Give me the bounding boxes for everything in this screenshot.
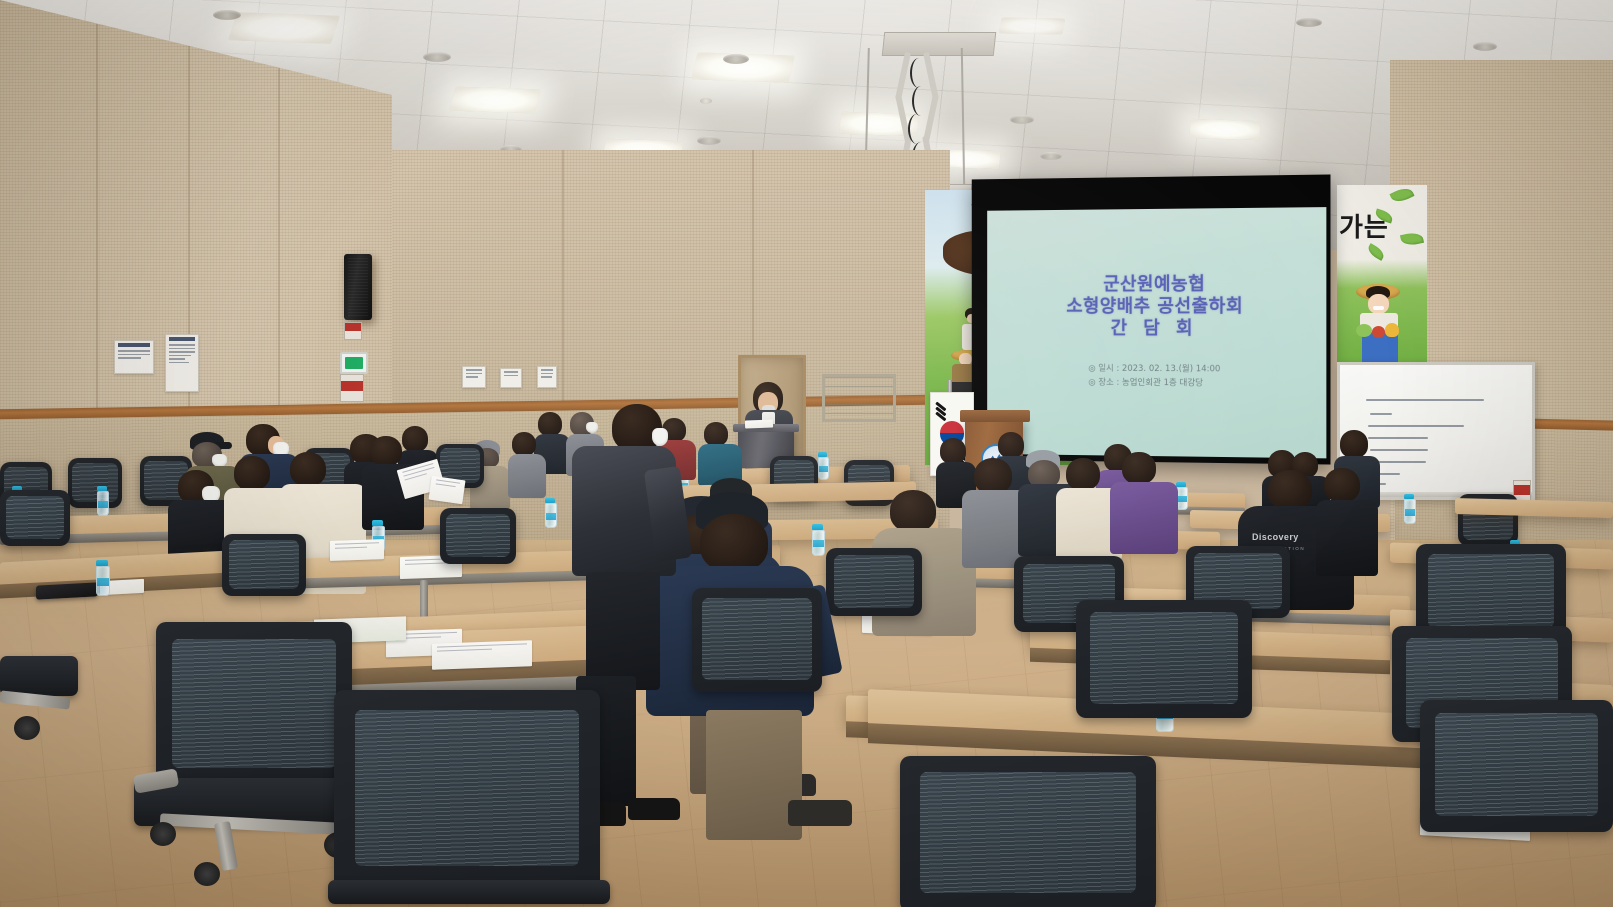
attendee-head bbox=[1324, 468, 1360, 502]
attendee-head bbox=[940, 438, 966, 464]
water-bottle[interactable] bbox=[818, 452, 827, 478]
slide-title-line3: 간 담 회 bbox=[1066, 318, 1243, 340]
projector-ceiling-plate bbox=[882, 32, 997, 56]
attendee-head bbox=[538, 412, 562, 436]
ceiling-led-panel bbox=[999, 17, 1066, 34]
water-bottle[interactable] bbox=[97, 486, 107, 514]
handout-paper[interactable] bbox=[432, 640, 532, 669]
ceiling-downlight bbox=[1296, 18, 1322, 27]
wall-vent-window bbox=[822, 374, 896, 422]
slide-title-line2: 소형양배추 공선출하회 bbox=[1066, 296, 1243, 318]
slide-meta-location: ◎ 장소 : 농업인회관 1층 대강당 bbox=[1088, 376, 1220, 391]
ceiling-downlight bbox=[723, 54, 749, 64]
mural-vegetable bbox=[1372, 326, 1385, 338]
wall-notice bbox=[165, 334, 199, 392]
fire-alarm-box[interactable] bbox=[344, 322, 362, 340]
attendee-mask bbox=[586, 422, 598, 433]
smoke-detector-icon bbox=[700, 98, 712, 104]
lectern-paper bbox=[745, 420, 773, 429]
standing-man-trousers bbox=[586, 572, 660, 690]
attendee-head bbox=[1340, 430, 1368, 458]
attendee-torso bbox=[1110, 482, 1178, 554]
attendee-torso bbox=[508, 454, 546, 498]
exit-sign-glyph bbox=[345, 357, 363, 368]
attendee-head bbox=[370, 436, 402, 466]
projection-surface: 군산원예농협 소형양배추 공선출하회 간 담 회 ◎ 일시 : 2023. 02… bbox=[987, 207, 1326, 458]
standing-man-shoe bbox=[628, 798, 680, 820]
ceiling-led-panel bbox=[228, 12, 340, 44]
ceiling-downlight bbox=[423, 52, 451, 62]
projector-cable bbox=[908, 114, 926, 144]
slide-meta-datetime: ◎ 일시 : 2023. 02. 13.(월) 14:00 bbox=[1088, 362, 1220, 377]
mural-leaf bbox=[1366, 243, 1387, 261]
mural-vegetable bbox=[1356, 324, 1372, 337]
whiteboard-writing bbox=[1370, 413, 1392, 415]
whiteboard-writing bbox=[1368, 425, 1464, 427]
standing-man-mask bbox=[652, 428, 668, 446]
attendee-head bbox=[890, 490, 936, 532]
presentation-slide: 군산원예농협 소형양배추 공선출하회 간 담 회 ◎ 일시 : 2023. 02… bbox=[987, 207, 1326, 458]
jacket-brand-text: Discovery bbox=[1252, 532, 1299, 542]
attendee-head bbox=[998, 432, 1024, 458]
whiteboard-writing bbox=[1366, 399, 1484, 401]
slide-title: 군산원예농협 소형양배추 공선출하회 간 담 회 bbox=[1066, 274, 1243, 340]
slide-title-line1: 군산원예농협 bbox=[1066, 274, 1243, 297]
projector-cable bbox=[910, 58, 928, 88]
handout-paper[interactable] bbox=[330, 539, 384, 561]
water-bottle[interactable] bbox=[545, 498, 555, 526]
seminar-room-photo: 가는 군산원예농협 소형양배추 공선출하회 간 담 회 ◎ 일시 : 20 bbox=[0, 0, 1613, 907]
attendee-head bbox=[704, 422, 728, 446]
wall-notice bbox=[537, 366, 557, 388]
wall-speaker bbox=[344, 254, 372, 320]
wall-notice bbox=[114, 340, 154, 374]
wall-notice bbox=[462, 366, 486, 388]
attendee-head bbox=[290, 452, 326, 486]
whiteboard-writing bbox=[1368, 437, 1428, 439]
water-bottle[interactable] bbox=[1404, 494, 1414, 522]
mural-farmer-right bbox=[1342, 280, 1424, 364]
attendee-head bbox=[1066, 458, 1100, 490]
attendee-head bbox=[1268, 470, 1312, 510]
ceiling-led-panel bbox=[1189, 119, 1260, 140]
mural-farmer-face bbox=[1368, 294, 1389, 314]
wall-notice bbox=[500, 368, 522, 388]
ceiling-downlight bbox=[1473, 42, 1497, 51]
water-bottle[interactable] bbox=[812, 524, 823, 554]
ceiling-led-panel bbox=[449, 86, 541, 113]
ceiling-downlight bbox=[213, 10, 241, 20]
fire-extinguisher-cabinet[interactable] bbox=[340, 374, 364, 402]
attendee-shoe bbox=[788, 800, 852, 826]
ceiling-downlight bbox=[697, 136, 721, 145]
handout-paper[interactable] bbox=[428, 476, 465, 504]
slide-meta: ◎ 일시 : 2023. 02. 13.(월) 14:00 ◎ 장소 : 농업인… bbox=[1088, 362, 1220, 392]
attendee-head bbox=[402, 426, 428, 452]
attendee-head bbox=[234, 456, 270, 490]
mural-vegetable bbox=[1385, 323, 1399, 337]
attendee-torso bbox=[1316, 500, 1378, 576]
mural-farmer-smile bbox=[1373, 306, 1384, 310]
projector-cable bbox=[912, 86, 930, 116]
podium-top bbox=[960, 410, 1030, 422]
whiteboard-writing bbox=[1370, 449, 1428, 451]
ceiling-downlight bbox=[1010, 115, 1034, 124]
exit-sign bbox=[340, 352, 368, 374]
mural-leaf bbox=[1400, 231, 1424, 247]
mural-leaf bbox=[1389, 185, 1414, 205]
attendee-head bbox=[700, 514, 768, 572]
attendee-head bbox=[1122, 452, 1156, 484]
attendee-head bbox=[512, 432, 536, 456]
ceiling-downlight bbox=[1040, 152, 1062, 160]
attendee-head bbox=[974, 458, 1012, 494]
water-bottle[interactable] bbox=[96, 560, 108, 594]
